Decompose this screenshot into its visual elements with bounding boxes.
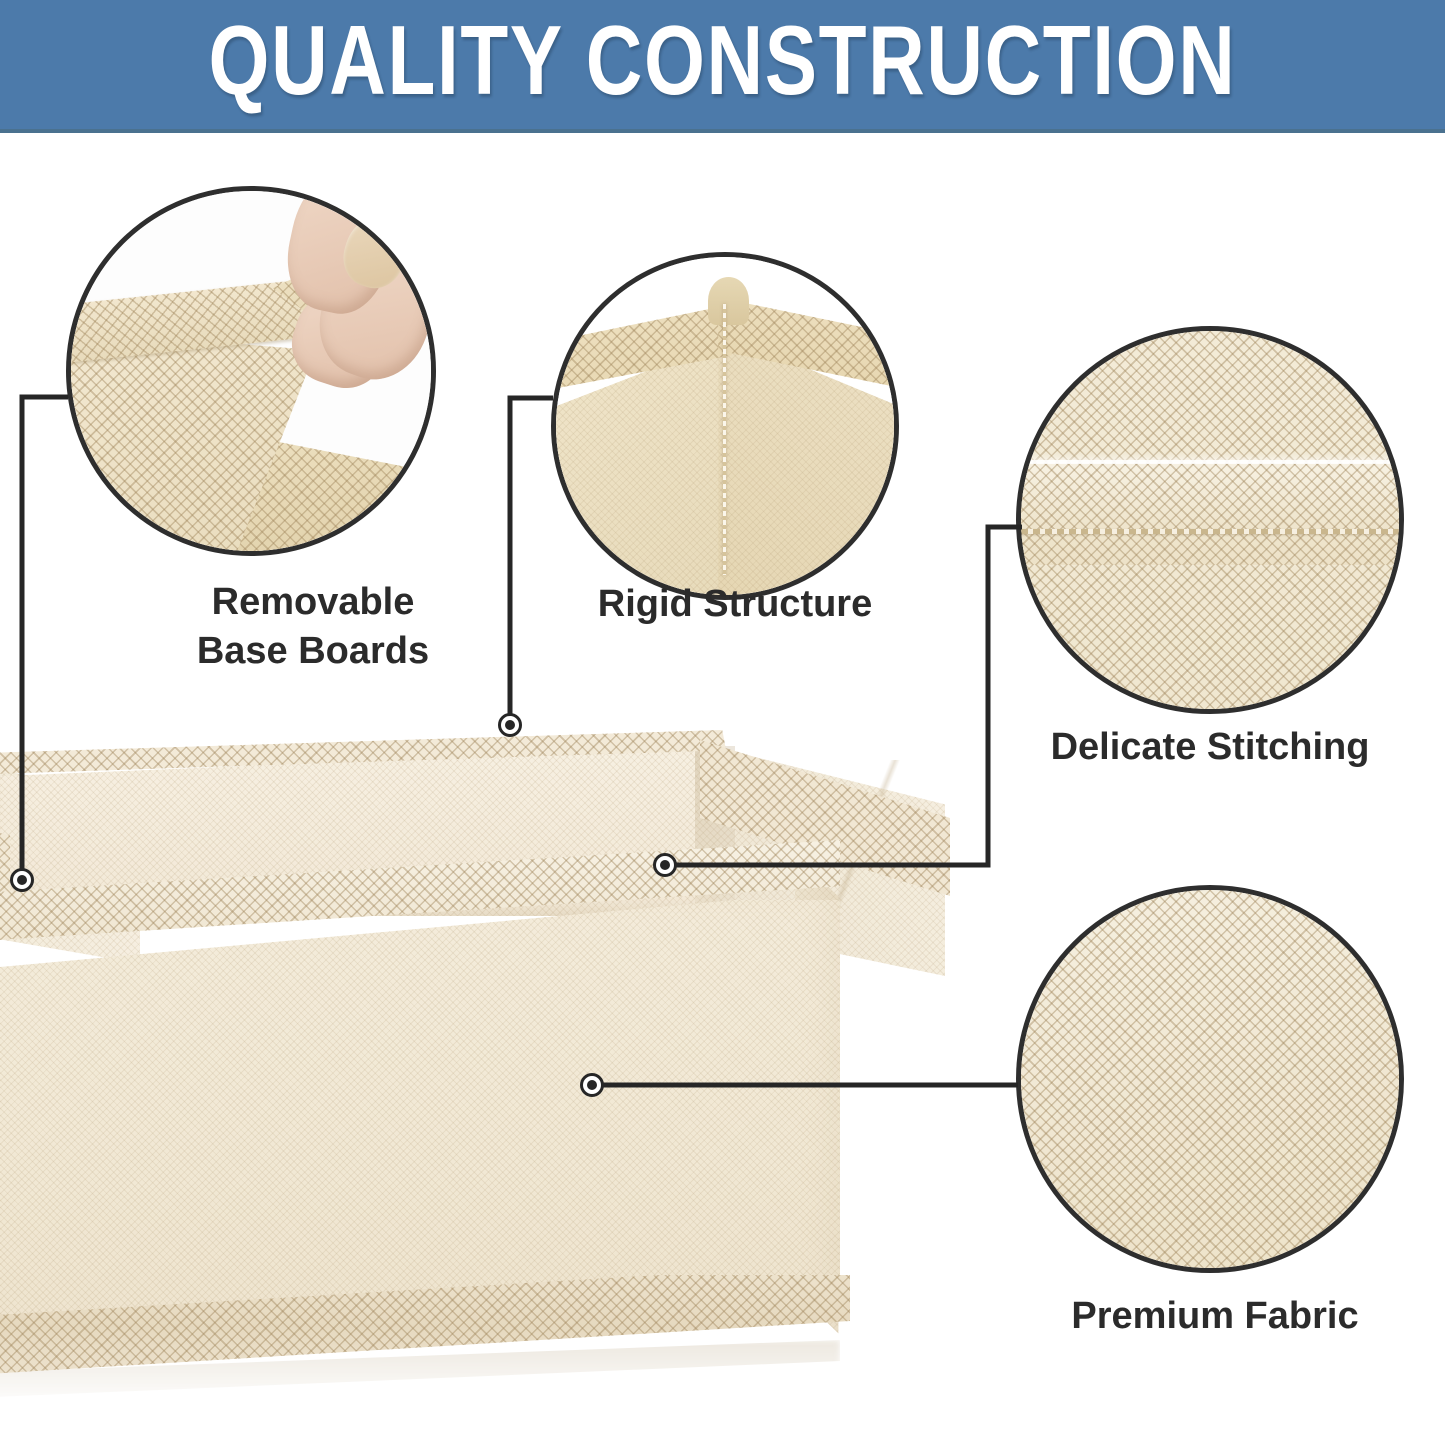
header-banner: QUALITY CONSTRUCTION [0,0,1445,133]
connector-line-rigid-structure [510,398,553,725]
callout-circle-rigid-structure [551,252,899,600]
bin-corner-peak [708,277,749,324]
marker-dot-premium-fabric [580,1073,604,1097]
callout-circle-removable-base-boards [66,186,436,556]
banner-title-text: QUALITY CONSTRUCTION [209,11,1237,109]
feature-label-delicate-stitching: Delicate Stitching [1020,723,1400,772]
marker-dot-removable-base-boards [10,868,34,892]
feature-label-rigid-structure: Rigid Structure [585,580,885,629]
fabric-weave-texture [1021,890,1399,1268]
horizontal-stitch-seam [1021,529,1399,534]
banner-title: QUALITY CONSTRUCTION [0,14,1445,112]
marker-dot-rigid-structure [498,713,522,737]
infographic-canvas: QUALITY CONSTRUCTION [0,0,1445,1445]
stitched-binding-band [1021,463,1399,565]
product-storage-bin [0,700,970,1400]
marker-dot-delicate-stitching [653,853,677,877]
vertical-stitch-seam [723,304,726,574]
callout-circle-delicate-stitching [1016,326,1404,714]
binding-highlight-edge [1021,460,1399,464]
feature-label-removable-base-boards: Removable Base Boards [148,578,478,675]
feature-label-premium-fabric: Premium Fabric [1050,1292,1380,1341]
callout-circle-premium-fabric [1016,885,1404,1273]
